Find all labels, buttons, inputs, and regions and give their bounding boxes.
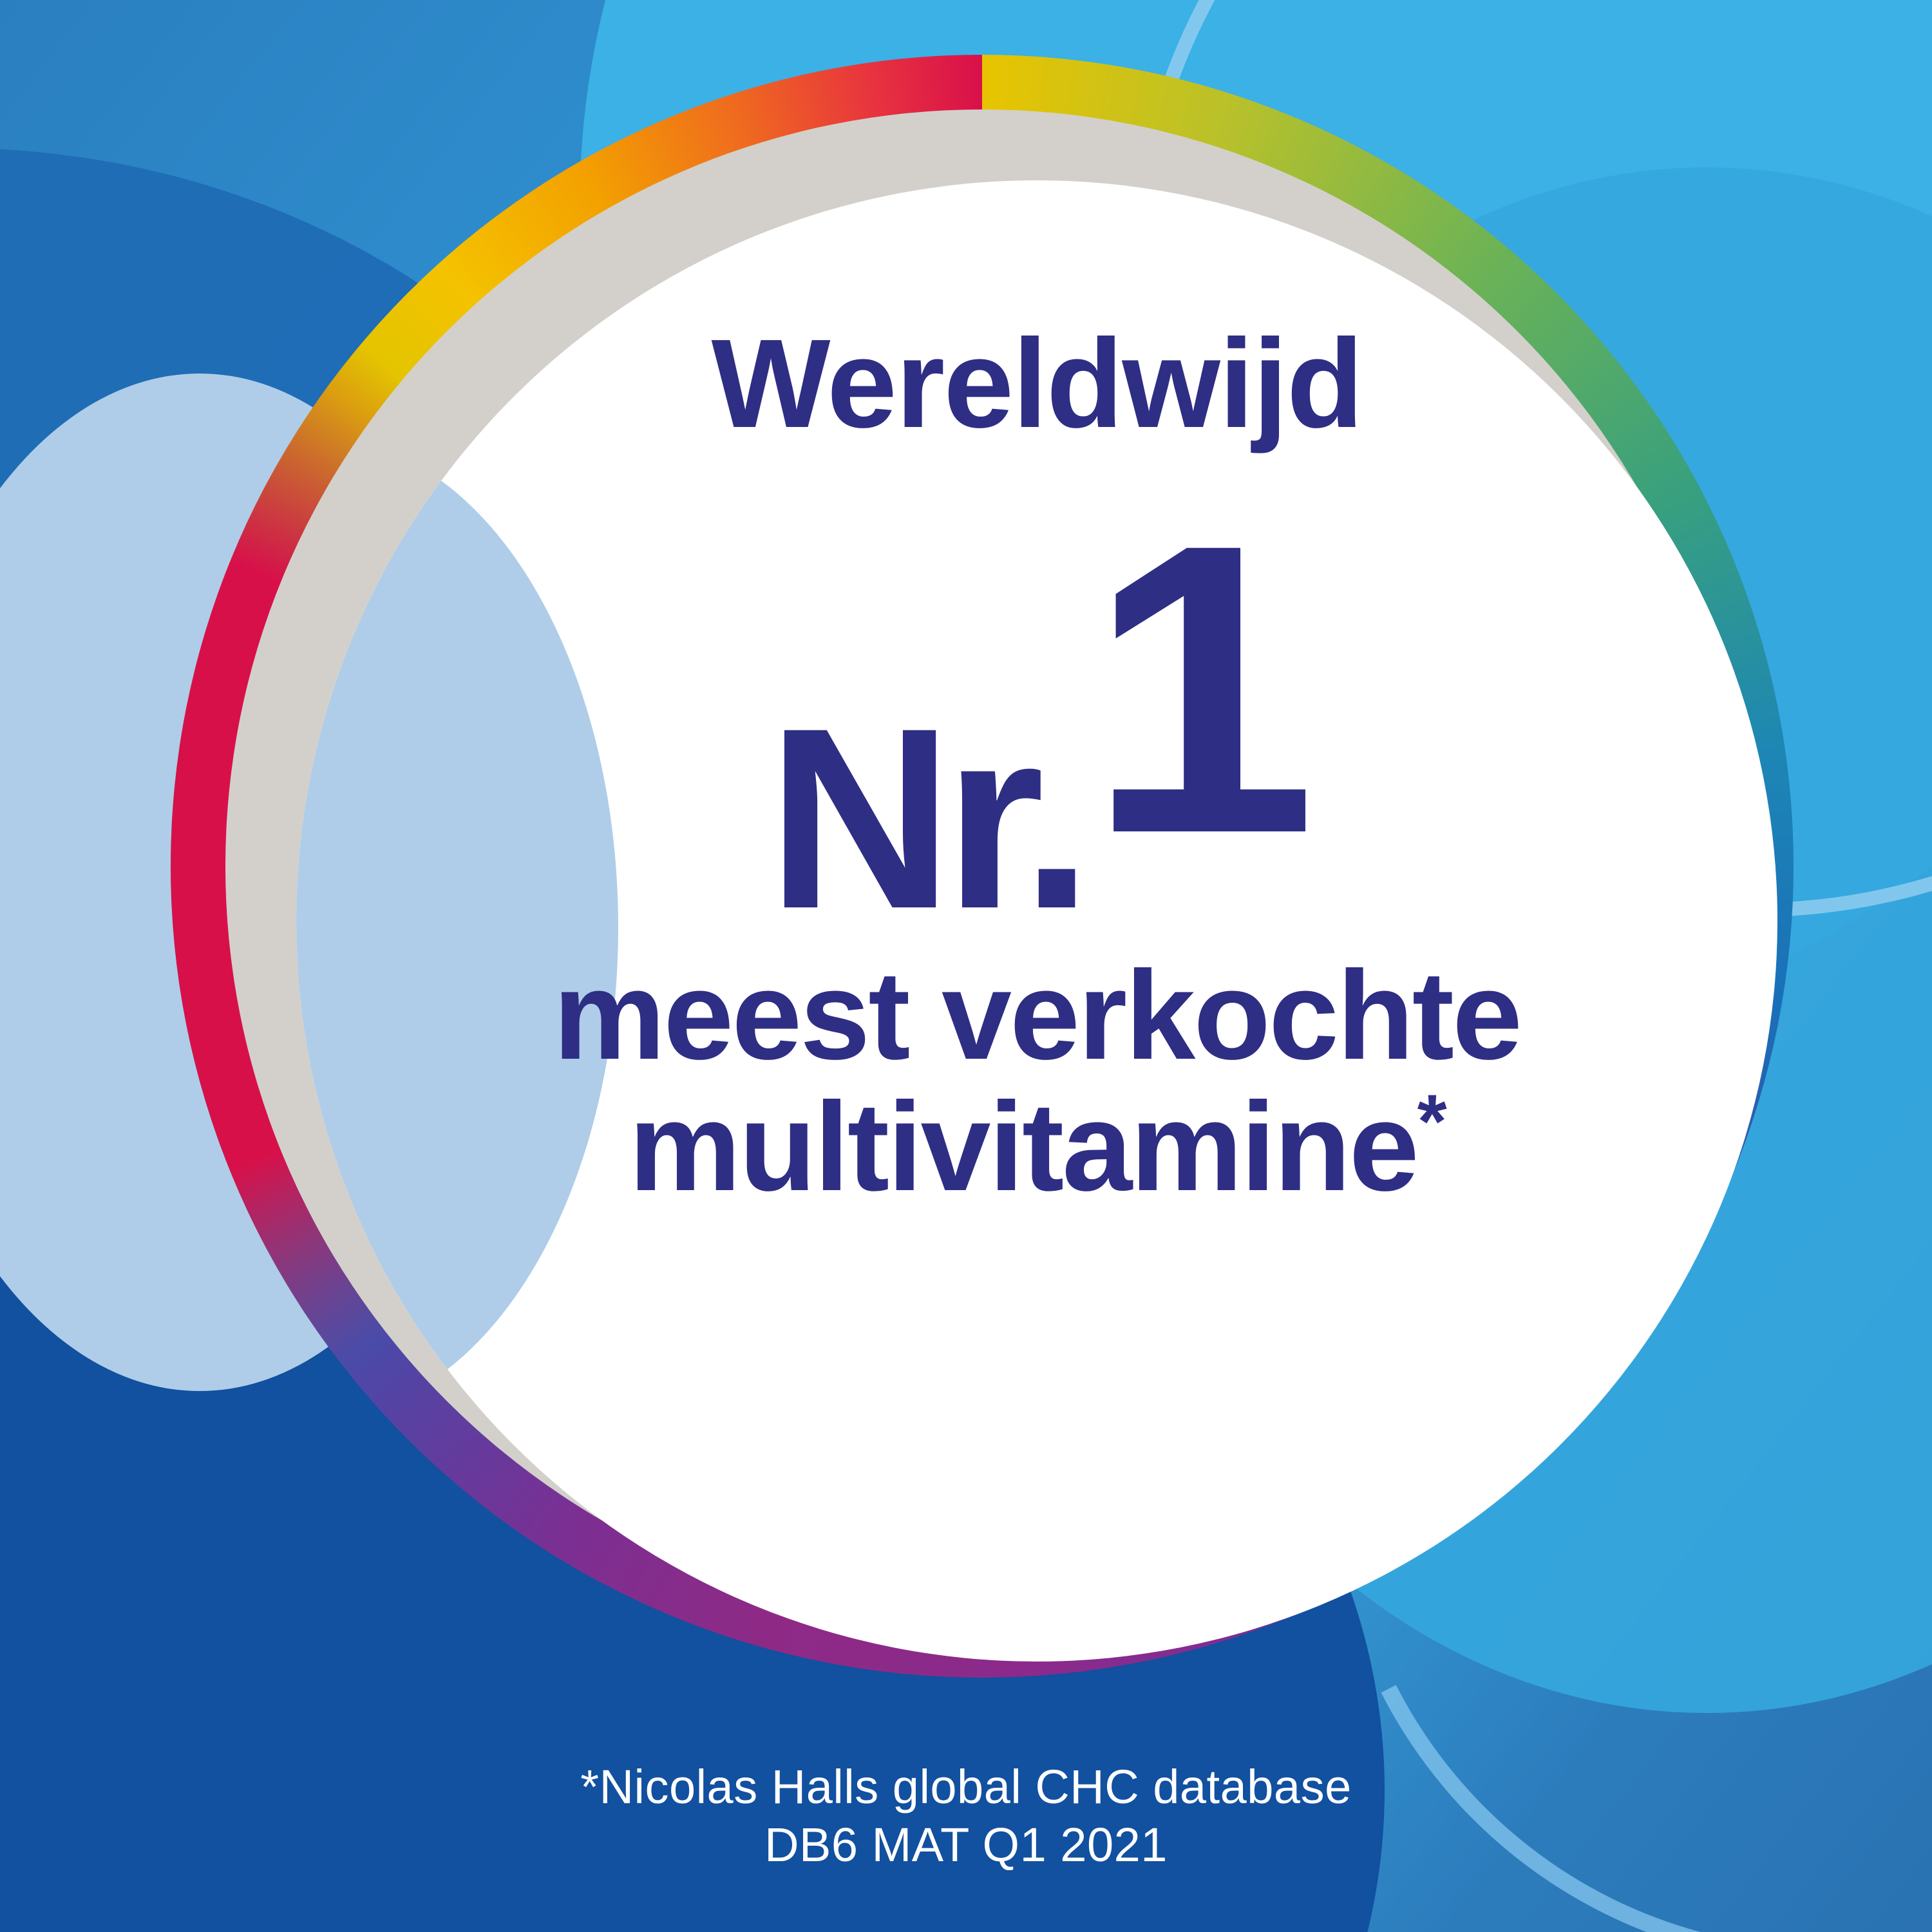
claim-text: meest verkochte multivitamine* xyxy=(296,950,1777,1213)
promo-badge-graphic: Wereldwijd Nr.1 meest verkochte multivit… xyxy=(0,0,1932,1932)
inner-gray-ring: Wereldwijd Nr.1 meest verkochte multivit… xyxy=(225,109,1739,1623)
rank-block: Nr.1 xyxy=(296,483,1777,934)
footnote-line-1: *Nicolas Halls global CHC database xyxy=(0,1758,1932,1816)
rainbow-ring: Wereldwijd Nr.1 meest verkochte multivit… xyxy=(171,55,1794,1678)
claim-line-2: multivitamine xyxy=(629,1076,1417,1217)
claim-line-1: meest verkochte xyxy=(296,950,1777,1081)
footnote-block: *Nicolas Halls global CHC database DB6 M… xyxy=(0,1758,1932,1875)
rank-number: 1 xyxy=(1088,483,1307,895)
badge-headline: Wereldwijd xyxy=(296,321,1777,447)
rank-prefix: Nr. xyxy=(767,690,1084,947)
rank-lockup: Nr.1 xyxy=(767,483,1307,895)
footnote-line-2: DB6 MAT Q1 2021 xyxy=(0,1816,1932,1874)
white-disc: Wereldwijd Nr.1 meest verkochte multivit… xyxy=(296,180,1777,1662)
footnote-marker-asterisk: * xyxy=(1417,1079,1445,1164)
claim-line-2-wrap: multivitamine* xyxy=(296,1081,1777,1213)
badge-content: Wereldwijd Nr.1 meest verkochte multivit… xyxy=(296,180,1777,1662)
